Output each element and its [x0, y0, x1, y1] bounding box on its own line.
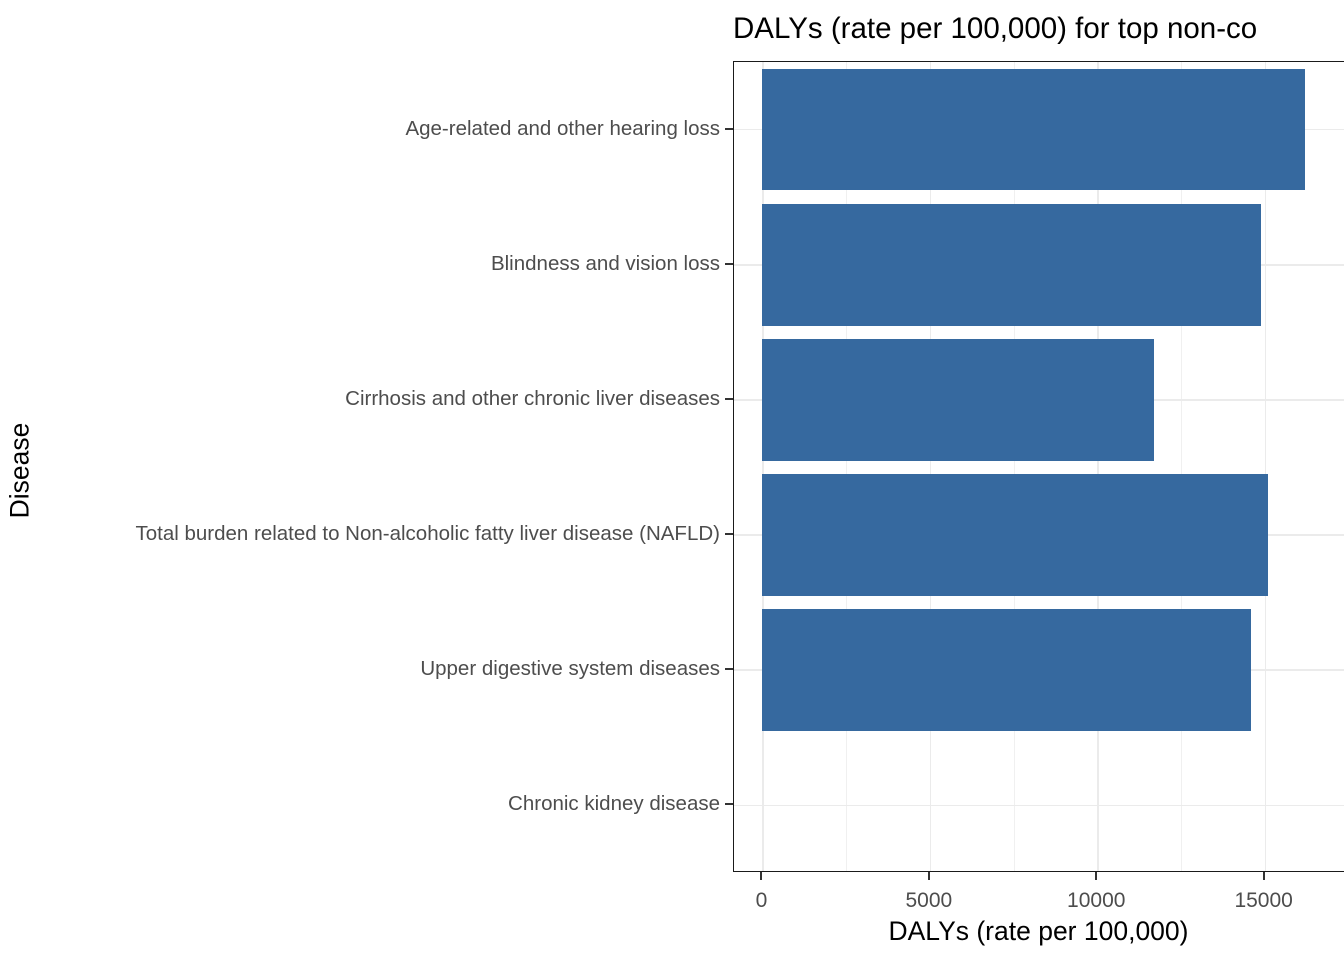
bar — [762, 609, 1251, 731]
y-axis-title: Disease — [5, 251, 36, 691]
y-tick-label: Cirrhosis and other chronic liver diseas… — [345, 387, 720, 411]
y-tick-mark — [725, 668, 733, 670]
y-tick-mark — [725, 398, 733, 400]
y-tick-mark — [725, 263, 733, 265]
bar — [762, 474, 1268, 596]
y-gridline-major — [734, 805, 1344, 807]
x-tick-label: 0 — [756, 889, 768, 913]
bar — [762, 69, 1304, 191]
x-tick-mark — [1263, 872, 1265, 880]
x-tick-mark — [1095, 872, 1097, 880]
y-tick-label: Blindness and vision loss — [491, 252, 720, 276]
x-tick-label: 10000 — [1067, 889, 1125, 913]
chart-container: DALYs (rate per 100,000) for top non-co … — [0, 0, 1344, 960]
x-tick-mark — [760, 872, 762, 880]
x-tick-label: 15000 — [1234, 889, 1292, 913]
chart-title: DALYs (rate per 100,000) for top non-co — [733, 9, 1344, 49]
y-tick-label: Upper digestive system diseases — [420, 657, 720, 681]
y-tick-label: Chronic kidney disease — [508, 792, 720, 816]
x-tick-mark — [928, 872, 930, 880]
y-tick-label: Age-related and other hearing loss — [405, 117, 720, 141]
plot-panel — [733, 61, 1344, 872]
x-tick-label: 5000 — [905, 889, 952, 913]
y-tick-label: Total burden related to Non-alcoholic fa… — [135, 522, 720, 546]
y-tick-mark — [725, 128, 733, 130]
x-axis-title: DALYs (rate per 100,000) — [733, 916, 1344, 947]
bar — [762, 204, 1261, 326]
plot-area — [734, 62, 1344, 871]
bar — [762, 339, 1154, 461]
y-tick-mark — [725, 803, 733, 805]
y-tick-mark — [725, 533, 733, 535]
